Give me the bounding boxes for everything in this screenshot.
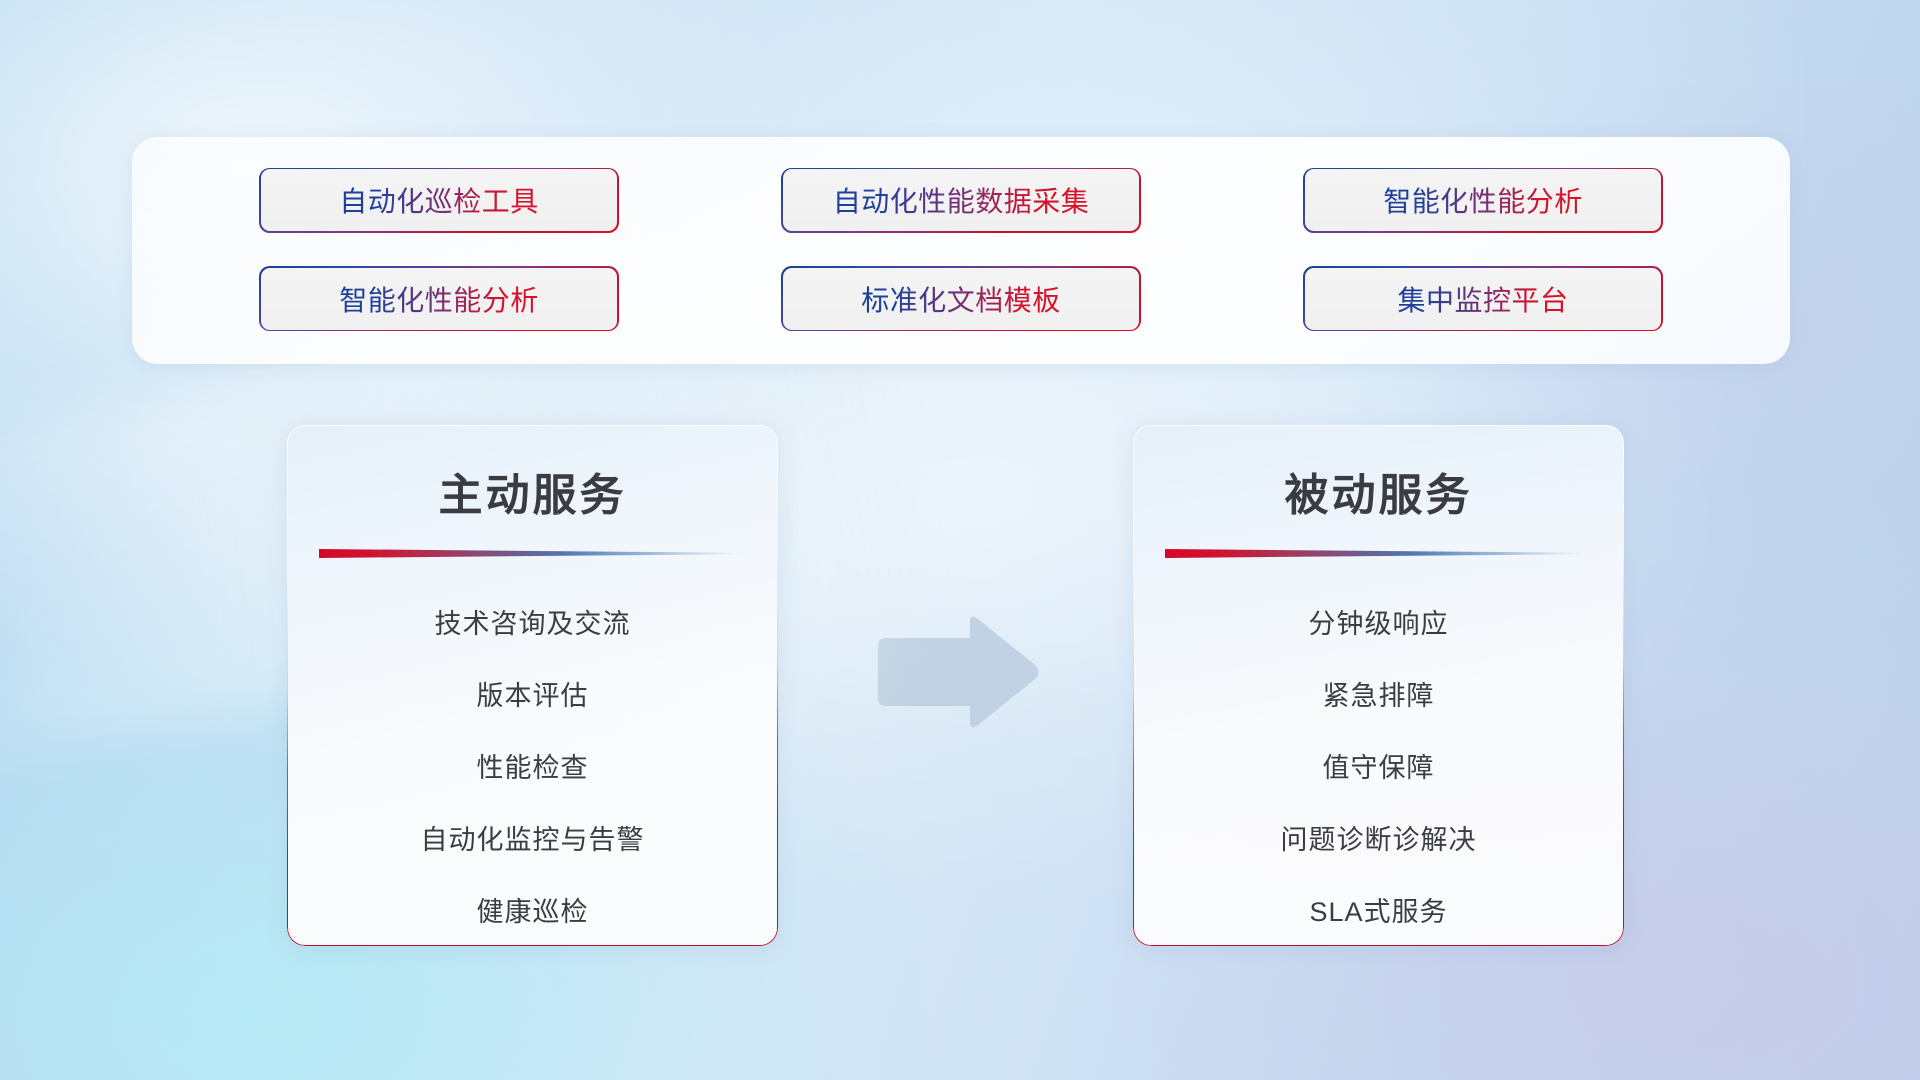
capability-tag-label: 自动化性能数据采集 (833, 180, 1090, 220)
service-list-item: 版本评估 (287, 660, 778, 732)
service-list-item: 值守保障 (1133, 732, 1624, 804)
capability-tag-standardized-document-template[interactable]: 标准化文档模板 (783, 268, 1139, 330)
service-item-list: 技术咨询及交流 版本评估 性能检查 自动化监控与告警 健康巡检 (287, 588, 778, 946)
capability-tag-label: 智能化性能分析 (1383, 180, 1583, 220)
service-card-title: 被动服务 (1133, 459, 1624, 523)
capability-tag-label: 标准化文档模板 (861, 279, 1061, 319)
service-list-item: 紧急排障 (1133, 660, 1624, 732)
capability-tag-label: 集中监控平台 (1397, 279, 1568, 319)
capability-tag-automation-performance-data-collection[interactable]: 自动化性能数据采集 (783, 169, 1139, 231)
service-card-divider (319, 549, 742, 558)
service-list-item: 分钟级响应 (1133, 588, 1624, 660)
service-list-item: 性能检查 (287, 732, 778, 804)
flow-arrow-right-icon (872, 613, 1042, 733)
capability-tag-label: 智能化性能分析 (339, 279, 539, 319)
service-card-active: 主动服务 技术咨询及交流 版本评估 性能检查 自动化监控与告警 健康巡检 (287, 425, 778, 946)
service-list-item: 健康巡检 (287, 876, 778, 946)
capability-tag-intelligent-performance-analysis-bottom[interactable]: 智能化性能分析 (261, 268, 617, 330)
service-list-item: 自动化监控与告警 (287, 804, 778, 876)
capability-tags-grid: 自动化巡检工具 自动化性能数据采集 智能化性能分析 智能化性能分析 标准化文档模… (132, 137, 1790, 364)
service-card-title: 主动服务 (287, 459, 778, 523)
service-list-item: 技术咨询及交流 (287, 588, 778, 660)
service-card-passive: 被动服务 分钟级响应 紧急排障 值守保障 问题诊断诊解决 SLA式服务 (1133, 425, 1624, 946)
capability-tag-centralized-monitoring-platform[interactable]: 集中监控平台 (1305, 268, 1661, 330)
service-list-item: SLA式服务 (1133, 876, 1624, 946)
capability-tag-label: 自动化巡检工具 (339, 180, 539, 220)
capability-tag-automation-inspection-tool[interactable]: 自动化巡检工具 (261, 169, 617, 231)
service-item-list: 分钟级响应 紧急排障 值守保障 问题诊断诊解决 SLA式服务 (1133, 588, 1624, 946)
service-card-divider (1165, 549, 1588, 558)
capability-tags-panel: 自动化巡检工具 自动化性能数据采集 智能化性能分析 智能化性能分析 标准化文档模… (132, 137, 1790, 364)
capability-tag-intelligent-performance-analysis-top[interactable]: 智能化性能分析 (1305, 169, 1661, 231)
service-list-item: 问题诊断诊解决 (1133, 804, 1624, 876)
